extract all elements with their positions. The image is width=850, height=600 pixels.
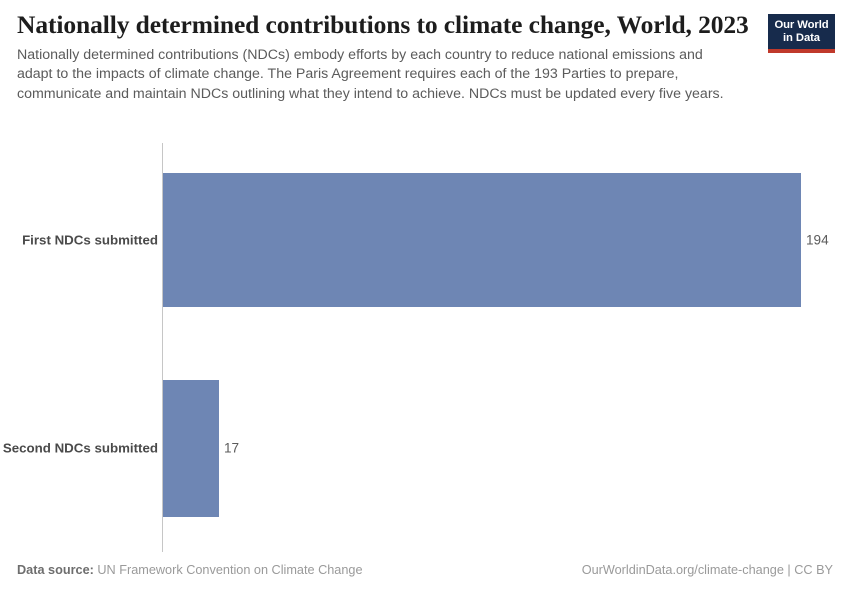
footer-attribution[interactable]: OurWorldinData.org/climate-change | CC B… <box>582 563 833 577</box>
bar-label-second-ndcs: Second NDCs submitted <box>3 441 158 456</box>
data-source-value: UN Framework Convention on Climate Chang… <box>97 563 362 577</box>
bar-first-ndcs[interactable] <box>163 173 801 307</box>
data-source-label: Data source: <box>17 563 94 577</box>
bar-label-first-ndcs: First NDCs submitted <box>22 233 158 248</box>
bar-row-first-ndcs[interactable]: First NDCs submitted 194 <box>0 173 850 307</box>
bar-row-second-ndcs[interactable]: Second NDCs submitted 17 <box>0 380 850 517</box>
chart-footer: Data source: UN Framework Convention on … <box>0 563 850 587</box>
bar-value-second-ndcs: 17 <box>224 441 239 456</box>
bar-value-first-ndcs: 194 <box>806 233 829 248</box>
data-source: Data source: UN Framework Convention on … <box>17 563 363 577</box>
bar-chart: First NDCs submitted 194 Second NDCs sub… <box>0 0 850 600</box>
bar-second-ndcs[interactable] <box>163 380 219 517</box>
